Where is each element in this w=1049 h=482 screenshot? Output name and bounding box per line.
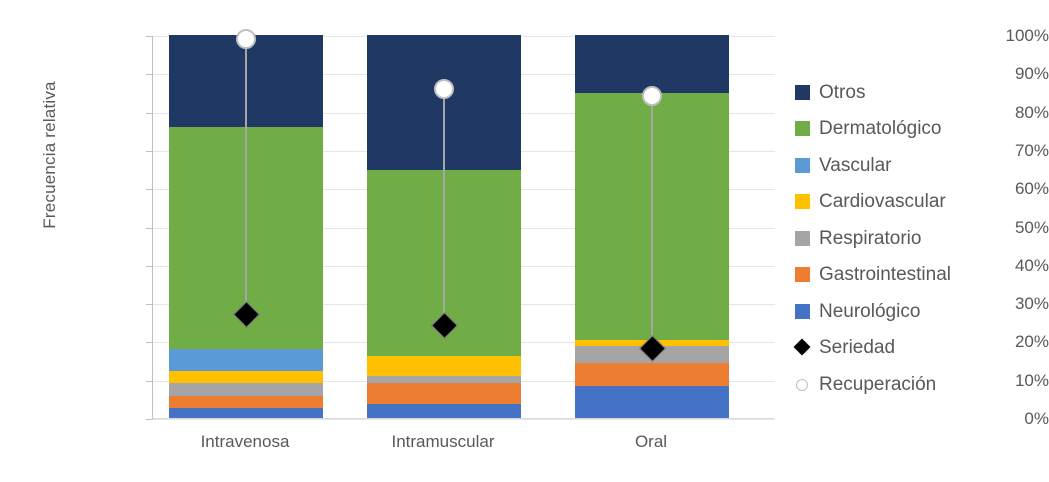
bar-segment-gastrointestinal[interactable] xyxy=(575,363,729,386)
legend-item-seriedad[interactable]: Seriedad xyxy=(795,330,951,367)
bar-oral[interactable] xyxy=(575,35,729,418)
legend-item-respiratorio[interactable]: Respiratorio xyxy=(795,220,951,257)
y-axis-tick-label: 90% xyxy=(979,64,1049,84)
legend-swatch-dermatológico xyxy=(795,121,810,136)
legend-swatch-cardiovascular xyxy=(795,194,810,209)
legend-swatch-gastrointestinal xyxy=(795,267,810,282)
legend-item-dermatológico[interactable]: Dermatológico xyxy=(795,111,951,148)
bar-segment-vascular[interactable] xyxy=(169,349,323,371)
legend-swatch-vascular xyxy=(795,158,810,173)
y-axis-tick-label: 10% xyxy=(979,371,1049,391)
y-axis-tick xyxy=(146,266,153,267)
seriedad-diamond-icon xyxy=(795,340,810,355)
bar-segment-neurológico[interactable] xyxy=(169,408,323,418)
legend-label: Seriedad xyxy=(819,338,895,357)
y-axis-tick-label: 30% xyxy=(979,294,1049,314)
y-axis-tick xyxy=(146,36,153,37)
legend-label: Neurológico xyxy=(819,302,920,321)
y-axis-tick-label: 100% xyxy=(979,26,1049,46)
legend-label: Respiratorio xyxy=(819,229,921,248)
y-axis-tick xyxy=(146,304,153,305)
chart-root: Frecuencia relativa IntravenosaIntramusc… xyxy=(0,0,1049,482)
y-axis-title: Frecuencia relativa xyxy=(40,45,60,265)
bar-segment-respiratorio[interactable] xyxy=(169,383,323,396)
marker-connector-line xyxy=(443,89,445,326)
legend-swatch-otros xyxy=(795,85,810,100)
y-axis-tick xyxy=(146,228,153,229)
recuperacion-marker[interactable] xyxy=(434,79,454,99)
y-axis-tick xyxy=(146,342,153,343)
bar-segment-neurológico[interactable] xyxy=(575,386,729,418)
gridline xyxy=(153,419,775,420)
x-axis-label-intravenosa: Intravenosa xyxy=(145,432,345,452)
legend-item-recuperación[interactable]: Recuperación xyxy=(795,366,951,403)
legend-label: Recuperación xyxy=(819,375,936,394)
bar-segment-cardiovascular[interactable] xyxy=(367,356,521,376)
bar-segment-gastrointestinal[interactable] xyxy=(169,396,323,408)
legend-label: Dermatológico xyxy=(819,119,942,138)
bar-intravenosa[interactable] xyxy=(169,35,323,418)
y-axis-tick-label: 70% xyxy=(979,141,1049,161)
bar-segment-neurológico[interactable] xyxy=(367,404,521,418)
bar-intramuscular[interactable] xyxy=(367,35,521,418)
legend-label: Gastrointestinal xyxy=(819,265,951,284)
recuperacion-marker[interactable] xyxy=(236,29,256,49)
legend-item-gastrointestinal[interactable]: Gastrointestinal xyxy=(795,257,951,294)
y-axis-tick xyxy=(146,151,153,152)
legend-item-vascular[interactable]: Vascular xyxy=(795,147,951,184)
legend-label: Otros xyxy=(819,83,865,102)
y-axis-tick-label: 20% xyxy=(979,332,1049,352)
marker-connector-line xyxy=(651,96,653,349)
x-axis-label-oral: Oral xyxy=(551,432,751,452)
y-axis-tick xyxy=(146,74,153,75)
bar-segment-gastrointestinal[interactable] xyxy=(367,383,521,404)
y-axis-tick xyxy=(146,419,153,420)
y-axis-tick-label: 60% xyxy=(979,179,1049,199)
y-axis-tick-label: 80% xyxy=(979,103,1049,123)
bar-segment-respiratorio[interactable] xyxy=(367,376,521,383)
plot-area xyxy=(152,36,774,419)
legend-label: Vascular xyxy=(819,156,892,175)
marker-connector-line xyxy=(245,39,247,315)
legend-item-otros[interactable]: Otros xyxy=(795,74,951,111)
bar-segment-otros[interactable] xyxy=(575,35,729,93)
y-axis-tick xyxy=(146,189,153,190)
x-axis-label-intramuscular: Intramuscular xyxy=(343,432,543,452)
legend-swatch-neurológico xyxy=(795,304,810,319)
y-axis-tick-label: 40% xyxy=(979,256,1049,276)
legend-label: Cardiovascular xyxy=(819,192,946,211)
y-axis-tick xyxy=(146,113,153,114)
legend-item-neurológico[interactable]: Neurológico xyxy=(795,293,951,330)
chart-legend: OtrosDermatológicoVascularCardiovascular… xyxy=(795,74,951,403)
bar-segment-cardiovascular[interactable] xyxy=(169,371,323,383)
legend-swatch-respiratorio xyxy=(795,231,810,246)
recuperacion-circle-icon xyxy=(795,377,810,392)
y-axis-tick-label: 50% xyxy=(979,218,1049,238)
y-axis-tick-label: 0% xyxy=(979,409,1049,429)
legend-item-cardiovascular[interactable]: Cardiovascular xyxy=(795,184,951,221)
y-axis-tick xyxy=(146,381,153,382)
